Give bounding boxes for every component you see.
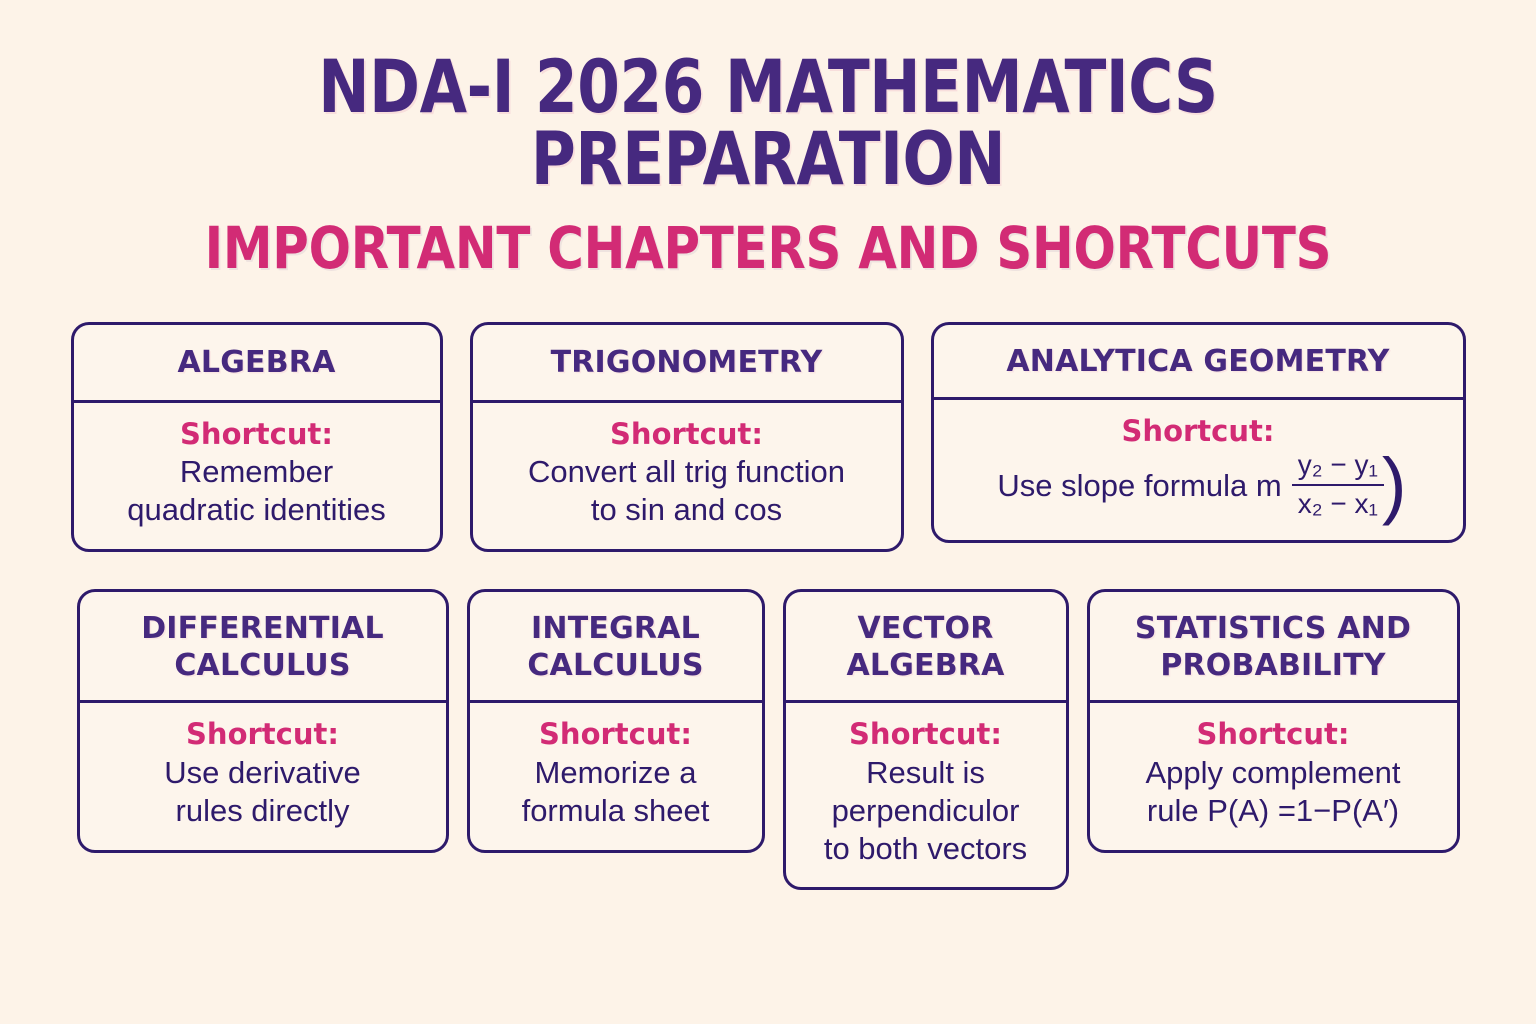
card-title-trigonometry: TRIGONOMETRY (473, 325, 901, 403)
card-body-algebra: Shortcut: Remember quadratic identities (74, 403, 440, 549)
card-body-statistics-probability: Shortcut: Apply complement rule P(A) =1−… (1090, 703, 1457, 849)
header: NDA-I 2026 MATHEMATICS PREPARATION IMPOR… (0, 0, 1536, 277)
card-body-analytical-geometry: Shortcut: Use slope formula m y₂ − y₁ x₂… (934, 400, 1463, 540)
card-differential-calculus[interactable]: DIFFERENTIAL CALCULUS Shortcut: Use deri… (77, 589, 449, 853)
card-title-analytical-geometry: ANALYTICA GEOMETRY (934, 325, 1463, 400)
shortcut-label: Shortcut: (86, 417, 428, 452)
shortcut-text: Remember quadratic identities (86, 453, 428, 529)
shortcut-text: Memorize a formula sheet (482, 754, 750, 830)
shortcut-label: Shortcut: (92, 717, 434, 752)
card-row-bottom: DIFFERENTIAL CALCULUS Shortcut: Use deri… (0, 589, 1536, 890)
shortcut-text: Convert all trig function to sin and cos (485, 453, 889, 529)
card-title-algebra: ALGEBRA (74, 325, 440, 403)
card-title-integral-calculus: INTEGRAL CALCULUS (470, 592, 762, 703)
card-body-differential-calculus: Shortcut: Use derivative rules directly (80, 703, 446, 849)
shortcut-label: Shortcut: (485, 417, 889, 452)
fraction-numerator: y₂ − y₁ (1292, 450, 1384, 486)
card-body-vector-algebra: Shortcut: Result is perpendiculor to bot… (786, 703, 1066, 887)
card-body-trigonometry: Shortcut: Convert all trig function to s… (473, 403, 901, 549)
shortcut-label: Shortcut: (1102, 717, 1445, 752)
card-integral-calculus[interactable]: INTEGRAL CALCULUS Shortcut: Memorize a f… (467, 589, 765, 853)
page-subtitle: IMPORTANT CHAPTERS AND SHORTCUTS (108, 219, 1429, 277)
formula-lead-text: Use slope formula m (997, 467, 1281, 504)
card-trigonometry[interactable]: TRIGONOMETRY Shortcut: Convert all trig … (470, 322, 904, 552)
card-title-statistics-probability: STATISTICS AND PROBABILITY (1090, 592, 1457, 703)
card-title-vector-algebra: VECTOR ALGEBRA (786, 592, 1066, 703)
card-analytical-geometry[interactable]: ANALYTICA GEOMETRY Shortcut: Use slope f… (931, 322, 1466, 543)
shortcut-label: Shortcut: (798, 717, 1054, 752)
shortcut-text: Result is perpendiculor to both vectors (798, 754, 1054, 867)
card-row-top: ALGEBRA Shortcut: Remember quadratic ide… (0, 322, 1536, 552)
card-statistics-probability[interactable]: STATISTICS AND PROBABILITY Shortcut: App… (1087, 589, 1460, 853)
closing-paren: ) (1382, 456, 1407, 514)
page-title: NDA-I 2026 MATHEMATICS PREPARATION (123, 52, 1413, 197)
shortcut-label: Shortcut: (946, 414, 1451, 449)
shortcut-text: Apply complement rule P(A) =1−P(A′) (1102, 754, 1445, 830)
chapter-card-grid: ALGEBRA Shortcut: Remember quadratic ide… (0, 322, 1536, 890)
card-body-integral-calculus: Shortcut: Memorize a formula sheet (470, 703, 762, 849)
shortcut-text: Use derivative rules directly (92, 754, 434, 830)
card-title-differential-calculus: DIFFERENTIAL CALCULUS (80, 592, 446, 703)
card-vector-algebra[interactable]: VECTOR ALGEBRA Shortcut: Result is perpe… (783, 589, 1069, 890)
shortcut-label: Shortcut: (482, 717, 750, 752)
fraction-denominator: x₂ − x₁ (1292, 486, 1384, 520)
fraction: y₂ − y₁ x₂ − x₁ (1292, 450, 1384, 520)
card-algebra[interactable]: ALGEBRA Shortcut: Remember quadratic ide… (71, 322, 443, 552)
slope-formula: Use slope formula m y₂ − y₁ x₂ − x₁ ) (946, 450, 1451, 520)
